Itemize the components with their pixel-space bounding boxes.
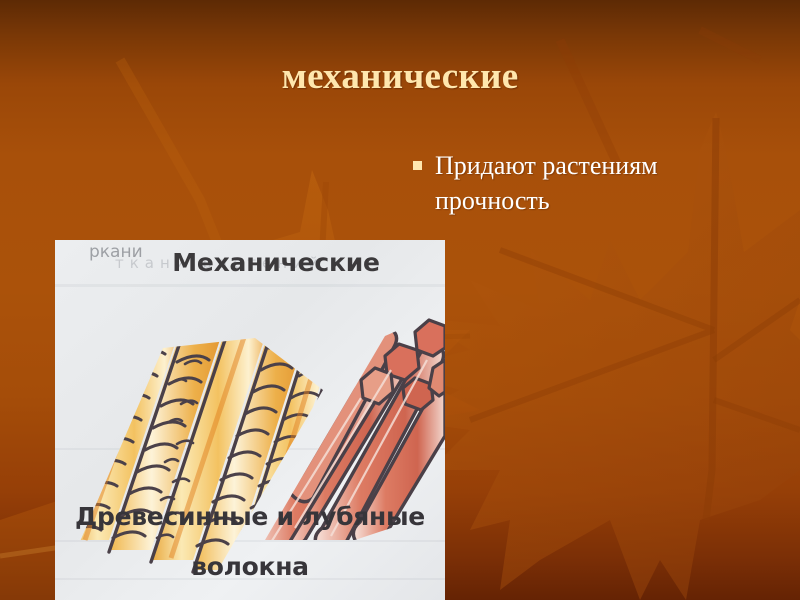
square-bullet-icon: [413, 161, 422, 170]
image-caption-line-2: волокна: [55, 552, 445, 581]
bullet-item: Придают растениям прочность: [413, 148, 753, 218]
presentation-slide: механические Придают растениям прочность: [0, 0, 800, 600]
image-caption-line-1: Древесинные и лубяные: [55, 502, 445, 531]
slide-title: механические: [0, 55, 800, 99]
image-heading: Механические: [55, 248, 445, 277]
mechanical-tissue-image: ркани ткани растений Механические Древес…: [55, 240, 445, 600]
slide-body: Придают растениям прочность: [413, 148, 753, 218]
bullet-text: Придают растениям прочность: [435, 148, 717, 218]
